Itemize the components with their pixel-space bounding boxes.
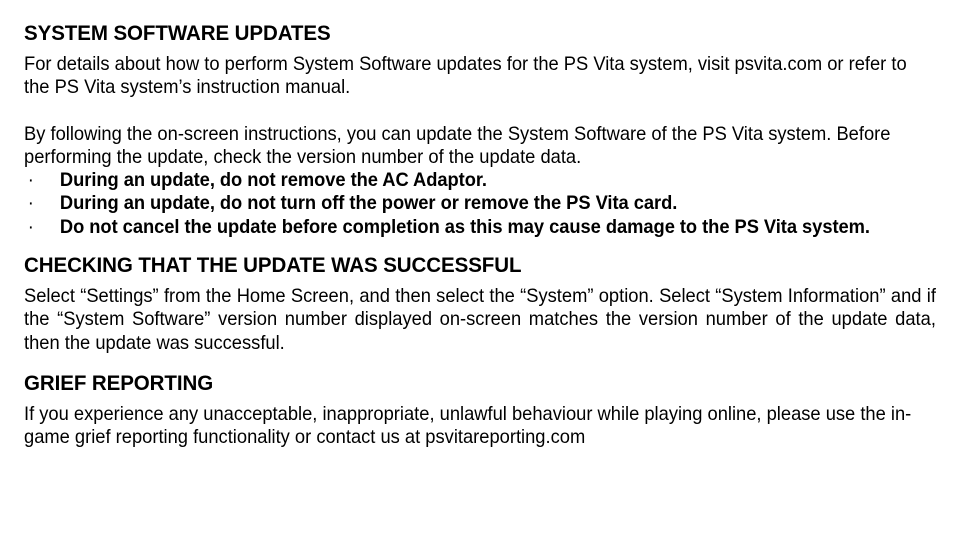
bullet-dot-icon: · <box>24 192 60 215</box>
bullet-text: During an update, do not turn off the po… <box>60 192 936 215</box>
document-page: SYSTEM SOFTWARE UPDATES For details abou… <box>0 0 960 544</box>
spacer <box>24 100 936 123</box>
spacer <box>24 46 936 53</box>
bullet-dot-icon: · <box>24 169 60 192</box>
section-heading-checking-update-successful: CHECKING THAT THE UPDATE WAS SUCCESSFUL <box>24 252 895 278</box>
warning-bullet-list: · During an update, do not remove the AC… <box>24 169 936 239</box>
list-item: · During an update, do not remove the AC… <box>24 169 936 192</box>
spacer <box>24 355 936 370</box>
paragraph-update-instructions: By following the on-screen instructions,… <box>24 123 936 170</box>
section-heading-system-software-updates: SYSTEM SOFTWARE UPDATES <box>24 20 895 46</box>
section-heading-grief-reporting: GRIEF REPORTING <box>24 370 895 396</box>
spacer <box>24 396 936 403</box>
bullet-text: Do not cancel the update before completi… <box>60 216 936 239</box>
list-item: · Do not cancel the update before comple… <box>24 216 936 239</box>
spacer <box>24 239 936 252</box>
bullet-dot-icon: · <box>24 216 60 239</box>
paragraph-verify-version: Select “Settings” from the Home Screen, … <box>24 285 936 355</box>
bullet-text: During an update, do not remove the AC A… <box>60 169 936 192</box>
list-item: · During an update, do not turn off the … <box>24 192 936 215</box>
document-body: SYSTEM SOFTWARE UPDATES For details abou… <box>24 20 936 450</box>
paragraph-update-details: For details about how to perform System … <box>24 53 936 100</box>
spacer <box>24 278 936 285</box>
paragraph-grief-reporting: If you experience any unacceptable, inap… <box>24 403 936 450</box>
